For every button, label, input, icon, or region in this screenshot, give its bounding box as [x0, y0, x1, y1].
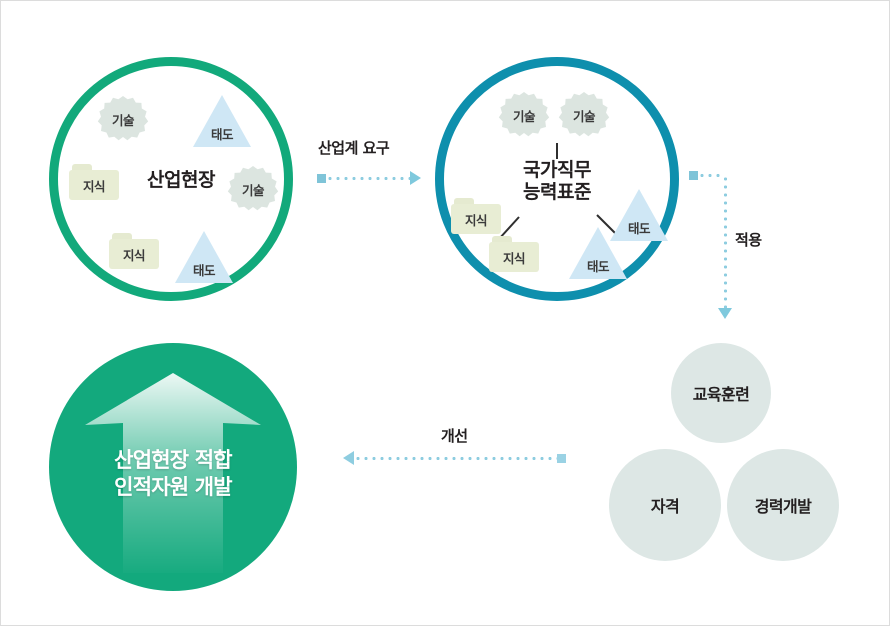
- ncs-circle-label: 국가직무 능력표준: [487, 159, 627, 204]
- outcome-bubble-qualification: 자격: [609, 449, 721, 561]
- ncs-gear-icon-skill-2-label: 기술: [558, 89, 610, 141]
- connector-improve-dots: [354, 457, 557, 460]
- diagram-canvas: 산업현장 기술 태도 지식 기술 지식 태도: [0, 0, 890, 626]
- folder-icon-knowledge-1: 지식: [69, 164, 119, 204]
- connector-start-square: [317, 174, 326, 183]
- connector-arrow-demand: [317, 171, 421, 185]
- connector-label-improve: 개선: [441, 425, 468, 446]
- ncs-connector-line-top: [556, 143, 558, 159]
- outcome-bubble-career: 경력개발: [727, 449, 839, 561]
- folder-icon-knowledge-2-label: 지식: [109, 239, 159, 269]
- triangle-icon-attitude-1: 태도: [191, 93, 253, 149]
- gear-icon-skill-2: 기술: [227, 163, 279, 215]
- gear-icon-skill-2-label: 기술: [227, 163, 279, 215]
- connector-apply-dots-h: [698, 174, 720, 177]
- outcome-bubble-education: 교육훈련: [671, 343, 771, 443]
- connector-label-demand: 산업계 요구: [318, 137, 389, 158]
- folder-icon-knowledge-2: 지식: [109, 233, 159, 273]
- triangle-icon-attitude-1-label: 태도: [191, 93, 253, 149]
- connector-improve-square: [557, 454, 566, 463]
- connector-apply-dots-v: [724, 175, 727, 308]
- arrow-right-icon: [410, 171, 421, 185]
- outcome-circle-label: 산업현장 적합 인적자원 개발: [49, 447, 297, 502]
- ncs-folder-icon-knowledge-1-label: 지식: [451, 204, 501, 234]
- gear-icon-skill-1-label: 기술: [97, 93, 149, 145]
- folder-icon-knowledge-1-label: 지식: [69, 170, 119, 200]
- connector-arrow-improve: [343, 451, 566, 465]
- ncs-folder-icon-knowledge-1: 지식: [451, 198, 501, 238]
- ncs-gear-icon-skill-2: 기술: [558, 89, 610, 141]
- arrow-down-icon: [718, 308, 732, 319]
- ncs-triangle-icon-attitude-2-label: 태도: [567, 225, 629, 281]
- connector-label-apply: 적용: [735, 229, 762, 250]
- ncs-gear-icon-skill-1: 기술: [498, 89, 550, 141]
- ncs-gear-icon-skill-1-label: 기술: [498, 89, 550, 141]
- connector-apply-vertical: [718, 175, 732, 319]
- connector-dots: [326, 177, 410, 180]
- ncs-folder-icon-knowledge-2-label: 지식: [489, 242, 539, 272]
- industry-circle-label: 산업현장: [121, 169, 241, 191]
- gear-icon-skill-1: 기술: [97, 93, 149, 145]
- ncs-triangle-icon-attitude-2: 태도: [567, 225, 629, 281]
- ncs-folder-icon-knowledge-2: 지식: [489, 236, 539, 276]
- connector-apply-square: [689, 171, 698, 180]
- triangle-icon-attitude-2-label: 태도: [173, 229, 235, 285]
- triangle-icon-attitude-2: 태도: [173, 229, 235, 285]
- outcome-circle: 산업현장 적합 인적자원 개발: [49, 343, 297, 591]
- arrow-left-icon: [343, 451, 354, 465]
